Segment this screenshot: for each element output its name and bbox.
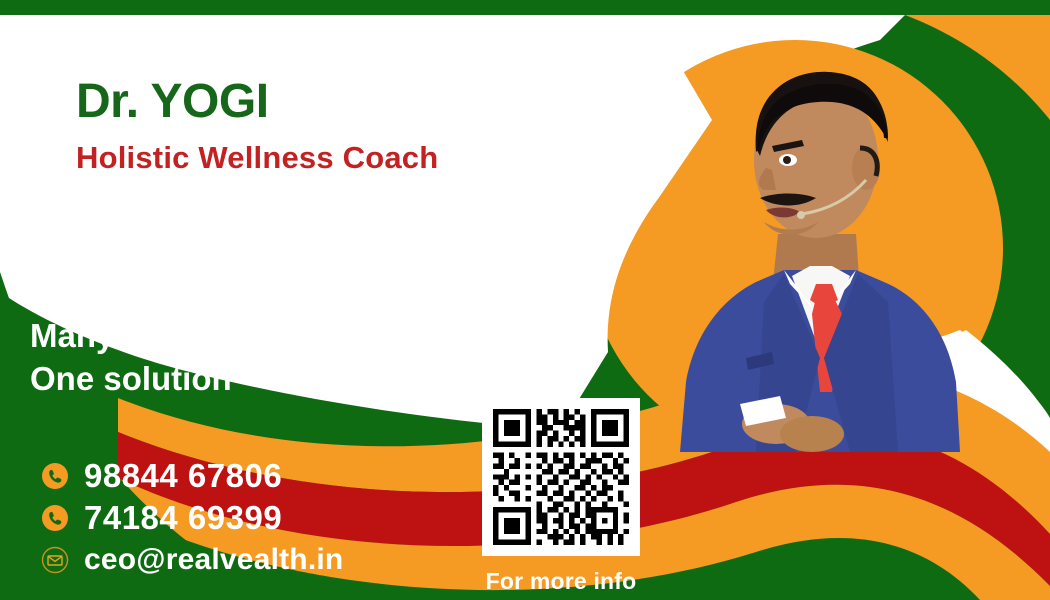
qr-caption: For more info <box>482 568 640 595</box>
contact-phone-1-label: 98844 67806 <box>84 457 282 495</box>
tagline-line-1: Many Health Issues? <box>30 315 490 358</box>
phone-icon <box>40 461 70 491</box>
qr-code-icon[interactable] <box>482 398 640 556</box>
contact-list: 98844 67806 74184 69399 ceo@realvealth.i… <box>40 455 460 581</box>
name-block: Dr. YOGI Holistic Wellness Coach <box>76 76 596 175</box>
tagline: Many Health Issues? One solution <box>30 315 490 401</box>
contact-phone-1[interactable]: 98844 67806 <box>40 455 460 497</box>
contact-email-label: ceo@realvealth.in <box>84 543 343 577</box>
contact-phone-2-label: 74184 69399 <box>84 499 282 537</box>
contact-email[interactable]: ceo@realvealth.in <box>40 539 460 581</box>
phone-icon <box>40 503 70 533</box>
email-icon <box>40 545 70 575</box>
tagline-line-2: One solution <box>30 358 490 401</box>
business-card: Dr. YOGI Holistic Wellness Coach Many He… <box>0 0 1050 600</box>
qr-block: For more info <box>482 398 640 595</box>
contact-phone-2[interactable]: 74184 69399 <box>40 497 460 539</box>
page-title: Dr. YOGI <box>76 76 596 128</box>
role-subtitle: Holistic Wellness Coach <box>76 140 596 176</box>
